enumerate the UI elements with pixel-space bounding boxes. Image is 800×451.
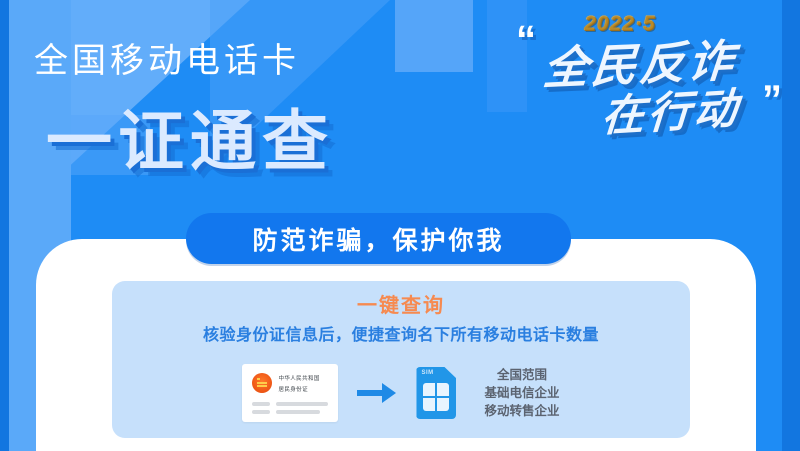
coverage-scope-list: 全国范围 基础电信企业 移动转售企业 [484, 366, 559, 420]
headline-subtitle: 全国移动电话卡 [34, 44, 300, 78]
query-card-title: 一键查询 [112, 289, 690, 318]
national-emblem-icon [252, 373, 272, 393]
id-card-country-label: 中华人民共和国 [278, 374, 319, 382]
background-edge-left [0, 0, 9, 451]
arrow-right-icon [354, 378, 400, 408]
id-card-type-label: 居民身份证 [278, 385, 308, 393]
sim-chip-icon [423, 383, 449, 411]
background-block-upper [395, 0, 473, 72]
illustration-row: 中华人民共和国 居民身份证 SIM [112, 359, 690, 427]
coverage-scope-item-1: 基础电信企业 [484, 384, 559, 402]
coverage-scope-item-0: 全国范围 [484, 366, 559, 384]
query-info-card: 一键查询 核验身份证信息后，便捷查询名下所有移动电话卡数量 中华人民共和国 居民… [112, 281, 690, 438]
query-card-subtitle: 核验身份证信息后，便捷查询名下所有移动电话卡数量 [112, 321, 690, 345]
slogan-pill[interactable]: 防范诈骗，保护你我 [186, 213, 571, 264]
coverage-scope-item-2: 移动转售企业 [484, 402, 559, 420]
id-card-placeholder-lines [252, 402, 328, 414]
quote-close-icon: ” [762, 80, 782, 120]
quote-open-icon: “ [516, 20, 536, 60]
slogan-pill-label: 防范诈骗，保护你我 [252, 221, 504, 257]
poster-root: 全国移动电话卡 一证通查 “ 2022·5 全民反诈 在行动 ” 防范诈骗，保护… [0, 0, 800, 451]
sim-card-icon: SIM [416, 367, 456, 419]
campaign-slogan-line2: 在行动 [600, 74, 743, 144]
headline-main-title: 一证通查 [46, 108, 334, 174]
id-card-icon: 中华人民共和国 居民身份证 [242, 364, 338, 422]
campaign-seal: “ 2022·5 全民反诈 在行动 ” [510, 6, 795, 138]
sim-card-label: SIM [421, 370, 433, 376]
